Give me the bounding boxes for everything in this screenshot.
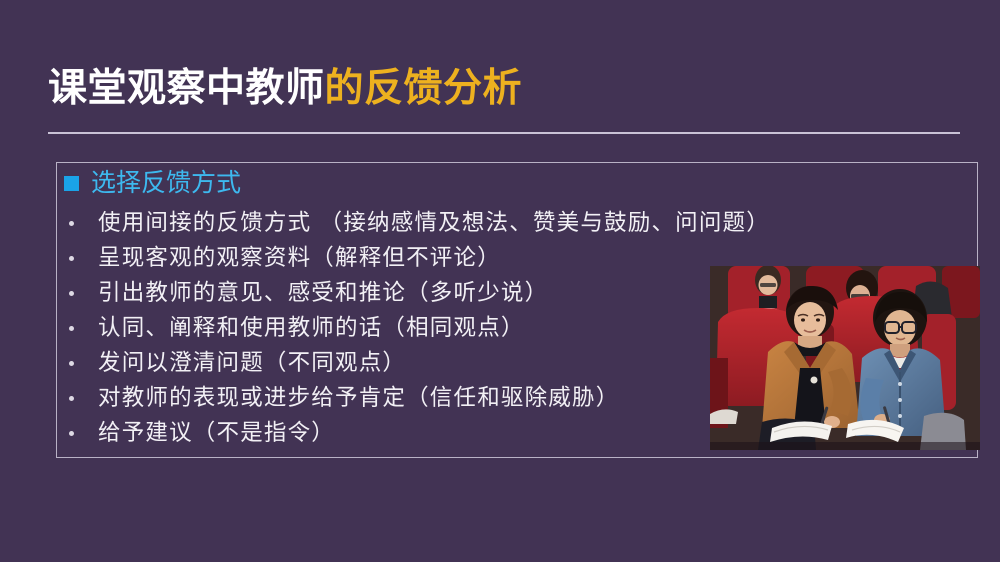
list-item-label: 呈现客观的观察资料（解释但不评论） <box>98 241 501 276</box>
list-item-label: 引出教师的意见、感受和推论（多听少说） <box>98 276 548 311</box>
list-item-label: 对教师的表现或进步给予肯定（信任和驱除威胁） <box>98 381 619 416</box>
dot-bullet-icon <box>69 361 74 366</box>
section-heading: 选择反馈方式 <box>64 170 241 195</box>
dot-bullet-icon <box>69 221 74 226</box>
title-divider <box>48 132 960 134</box>
page-title: 课堂观察中教师的反馈分析 <box>48 60 968 116</box>
square-bullet-icon <box>64 176 79 191</box>
list-item-label: 使用间接的反馈方式 （接纳感情及想法、赞美与鼓励、问问题） <box>98 206 770 241</box>
title-accent-text: 的反馈分析 <box>325 69 523 108</box>
list-item-label: 给予建议（不是指令） <box>98 416 335 451</box>
classroom-observation-photo <box>710 266 980 450</box>
list-item-label: 认同、阐释和使用教师的话（相同观点） <box>98 311 525 346</box>
title-main-text: 课堂观察中教师 <box>48 69 325 108</box>
dot-bullet-icon <box>69 431 74 436</box>
slide: 课堂观察中教师的反馈分析 选择反馈方式 使用间接的反馈方式 （接纳感情及想法、赞… <box>0 0 1000 562</box>
photo-illustration <box>710 266 980 450</box>
dot-bullet-icon <box>69 291 74 296</box>
section-heading-label: 选择反馈方式 <box>91 170 241 195</box>
dot-bullet-icon <box>69 396 74 401</box>
dot-bullet-icon <box>69 326 74 331</box>
dot-bullet-icon <box>69 256 74 261</box>
list-item-label: 发问以澄清问题（不同观点） <box>98 346 406 381</box>
list-item: 使用间接的反馈方式 （接纳感情及想法、赞美与鼓励、问问题） <box>66 206 956 241</box>
